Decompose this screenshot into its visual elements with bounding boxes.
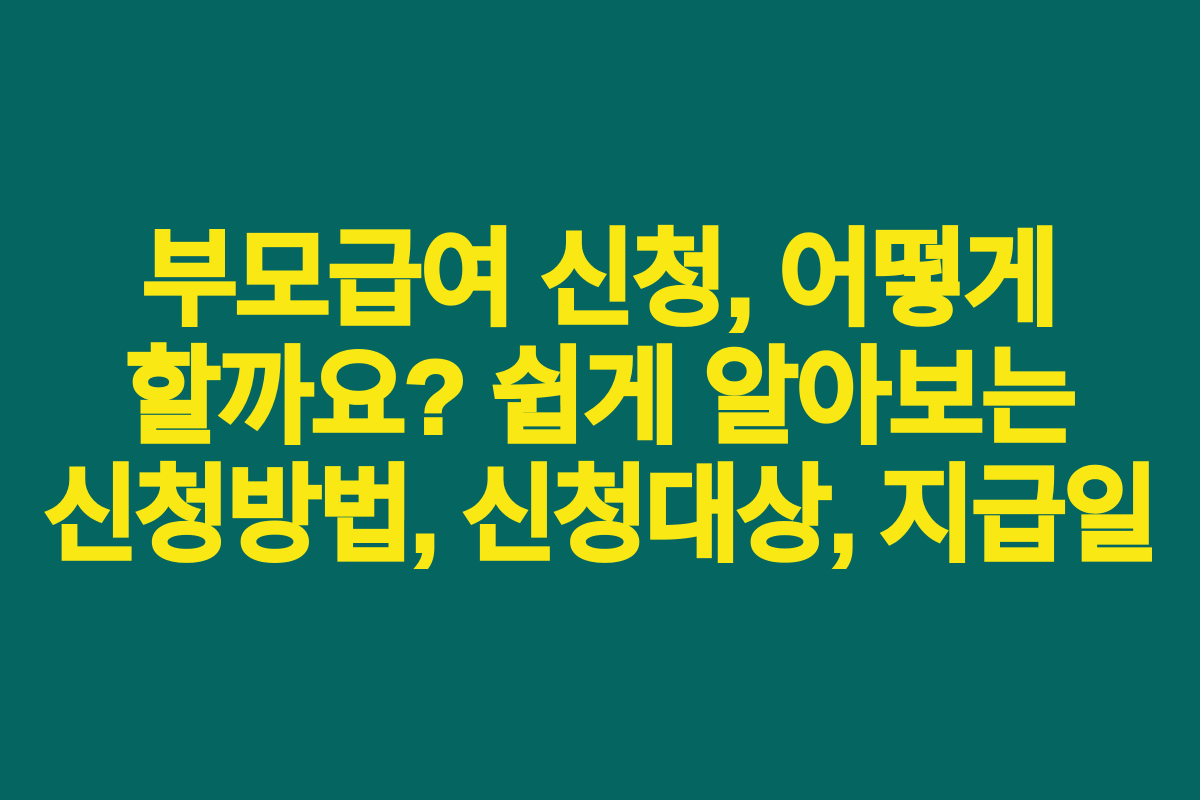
headline-line-2: 할까요? 쉽게 알아보는	[126, 339, 1075, 457]
headline-line-3: 신청방법, 신청대상, 지급일	[44, 457, 1156, 575]
headline-block: 부모급여 신청, 어떻게 할까요? 쉽게 알아보는 신청방법, 신청대상, 지급…	[0, 221, 1200, 575]
thumbnail-card: 부모급여 신청, 어떻게 할까요? 쉽게 알아보는 신청방법, 신청대상, 지급…	[0, 0, 1200, 800]
headline-line-1: 부모급여 신청, 어떻게	[143, 221, 1058, 339]
